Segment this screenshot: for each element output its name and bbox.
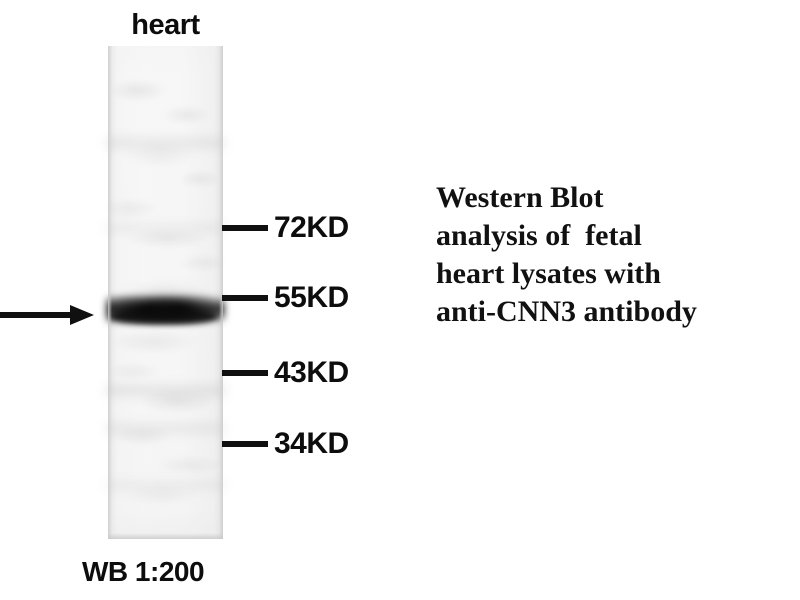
blot-lane xyxy=(108,46,223,539)
faint-band xyxy=(105,480,227,490)
faint-band xyxy=(105,384,227,397)
wb-dilution-label: WB 1:200 xyxy=(82,557,204,587)
marker-label: 34KD xyxy=(274,429,349,459)
marker-72kd: 72KD xyxy=(222,215,349,241)
caption-line: anti-CNN3 antibody xyxy=(436,293,792,331)
faint-band xyxy=(105,223,227,233)
marker-55kd: 55KD xyxy=(222,285,349,311)
marker-43kd: 43KD xyxy=(222,360,349,386)
marker-tick-icon xyxy=(222,441,268,447)
lane-title-heart: heart xyxy=(108,10,223,40)
figure-caption: Western Blot analysis of fetal heart lys… xyxy=(436,179,792,331)
marker-label: 72KD xyxy=(274,213,349,243)
caption-line: Western Blot xyxy=(436,179,792,217)
band-indicator-arrow xyxy=(0,303,95,327)
caption-line: analysis of fetal xyxy=(436,217,792,255)
faint-band xyxy=(105,423,227,434)
marker-tick-icon xyxy=(222,370,268,376)
marker-34kd: 34KD xyxy=(222,431,349,457)
faint-band xyxy=(105,137,227,149)
lane-edge-bottom xyxy=(108,533,223,539)
marker-label: 55KD xyxy=(274,283,349,313)
marker-tick-icon xyxy=(222,295,268,301)
main-protein-band-core xyxy=(110,309,218,324)
marker-tick-icon xyxy=(222,225,268,231)
western-blot-figure: heart 72KD 55KD 43KD 34KD xyxy=(0,0,800,600)
lane-edge-left xyxy=(108,46,112,539)
marker-label: 43KD xyxy=(274,358,349,388)
caption-line: heart lysates with xyxy=(436,255,792,293)
